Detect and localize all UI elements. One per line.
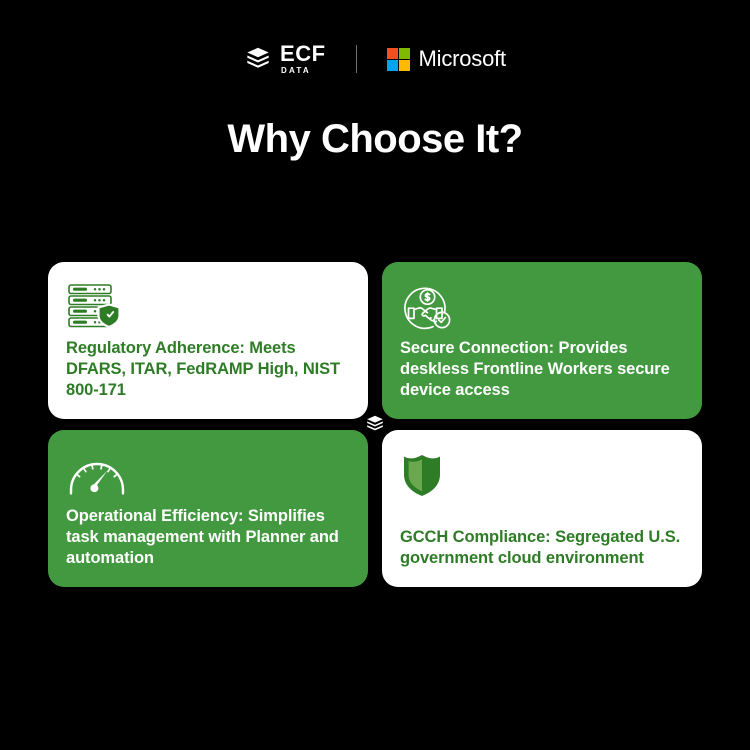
card-operational-efficiency: Operational Efficiency: Simplifies task … <box>48 430 368 587</box>
ecf-logo-name: ECF <box>280 43 326 65</box>
card-text: Operational Efficiency: Simplifies task … <box>66 506 350 571</box>
ecf-logo-subtitle: DATA <box>281 67 311 75</box>
microsoft-squares-icon <box>387 48 410 71</box>
ecf-data-logo: ECF DATA <box>244 43 326 75</box>
handshake-check-icon <box>400 282 684 330</box>
ecf-cube-icon <box>244 45 272 73</box>
card-secure-connection: Secure Connection: Provides deskless Fro… <box>382 262 702 419</box>
speedometer-gauge-icon <box>66 450 350 498</box>
card-regulatory-adherence: Regulatory Adherence: Meets DFARS, ITAR,… <box>48 262 368 419</box>
card-text: GCCH Compliance: Segregated U.S. governm… <box>400 527 684 571</box>
card-text: Secure Connection: Provides deskless Fro… <box>400 338 684 403</box>
microsoft-logo: Microsoft <box>387 46 506 72</box>
server-shield-icon <box>66 282 350 330</box>
card-text: Regulatory Adherence: Meets DFARS, ITAR,… <box>66 338 350 403</box>
header-logo-bar: ECF DATA Microsoft <box>0 43 750 75</box>
center-ecf-cube-icon <box>364 413 386 435</box>
card-gcch-compliance: GCCH Compliance: Segregated U.S. governm… <box>382 430 702 587</box>
page-title: Why Choose It? <box>0 117 750 162</box>
microsoft-logo-name: Microsoft <box>419 46 506 72</box>
logo-divider <box>356 45 357 73</box>
shield-icon <box>400 450 684 498</box>
